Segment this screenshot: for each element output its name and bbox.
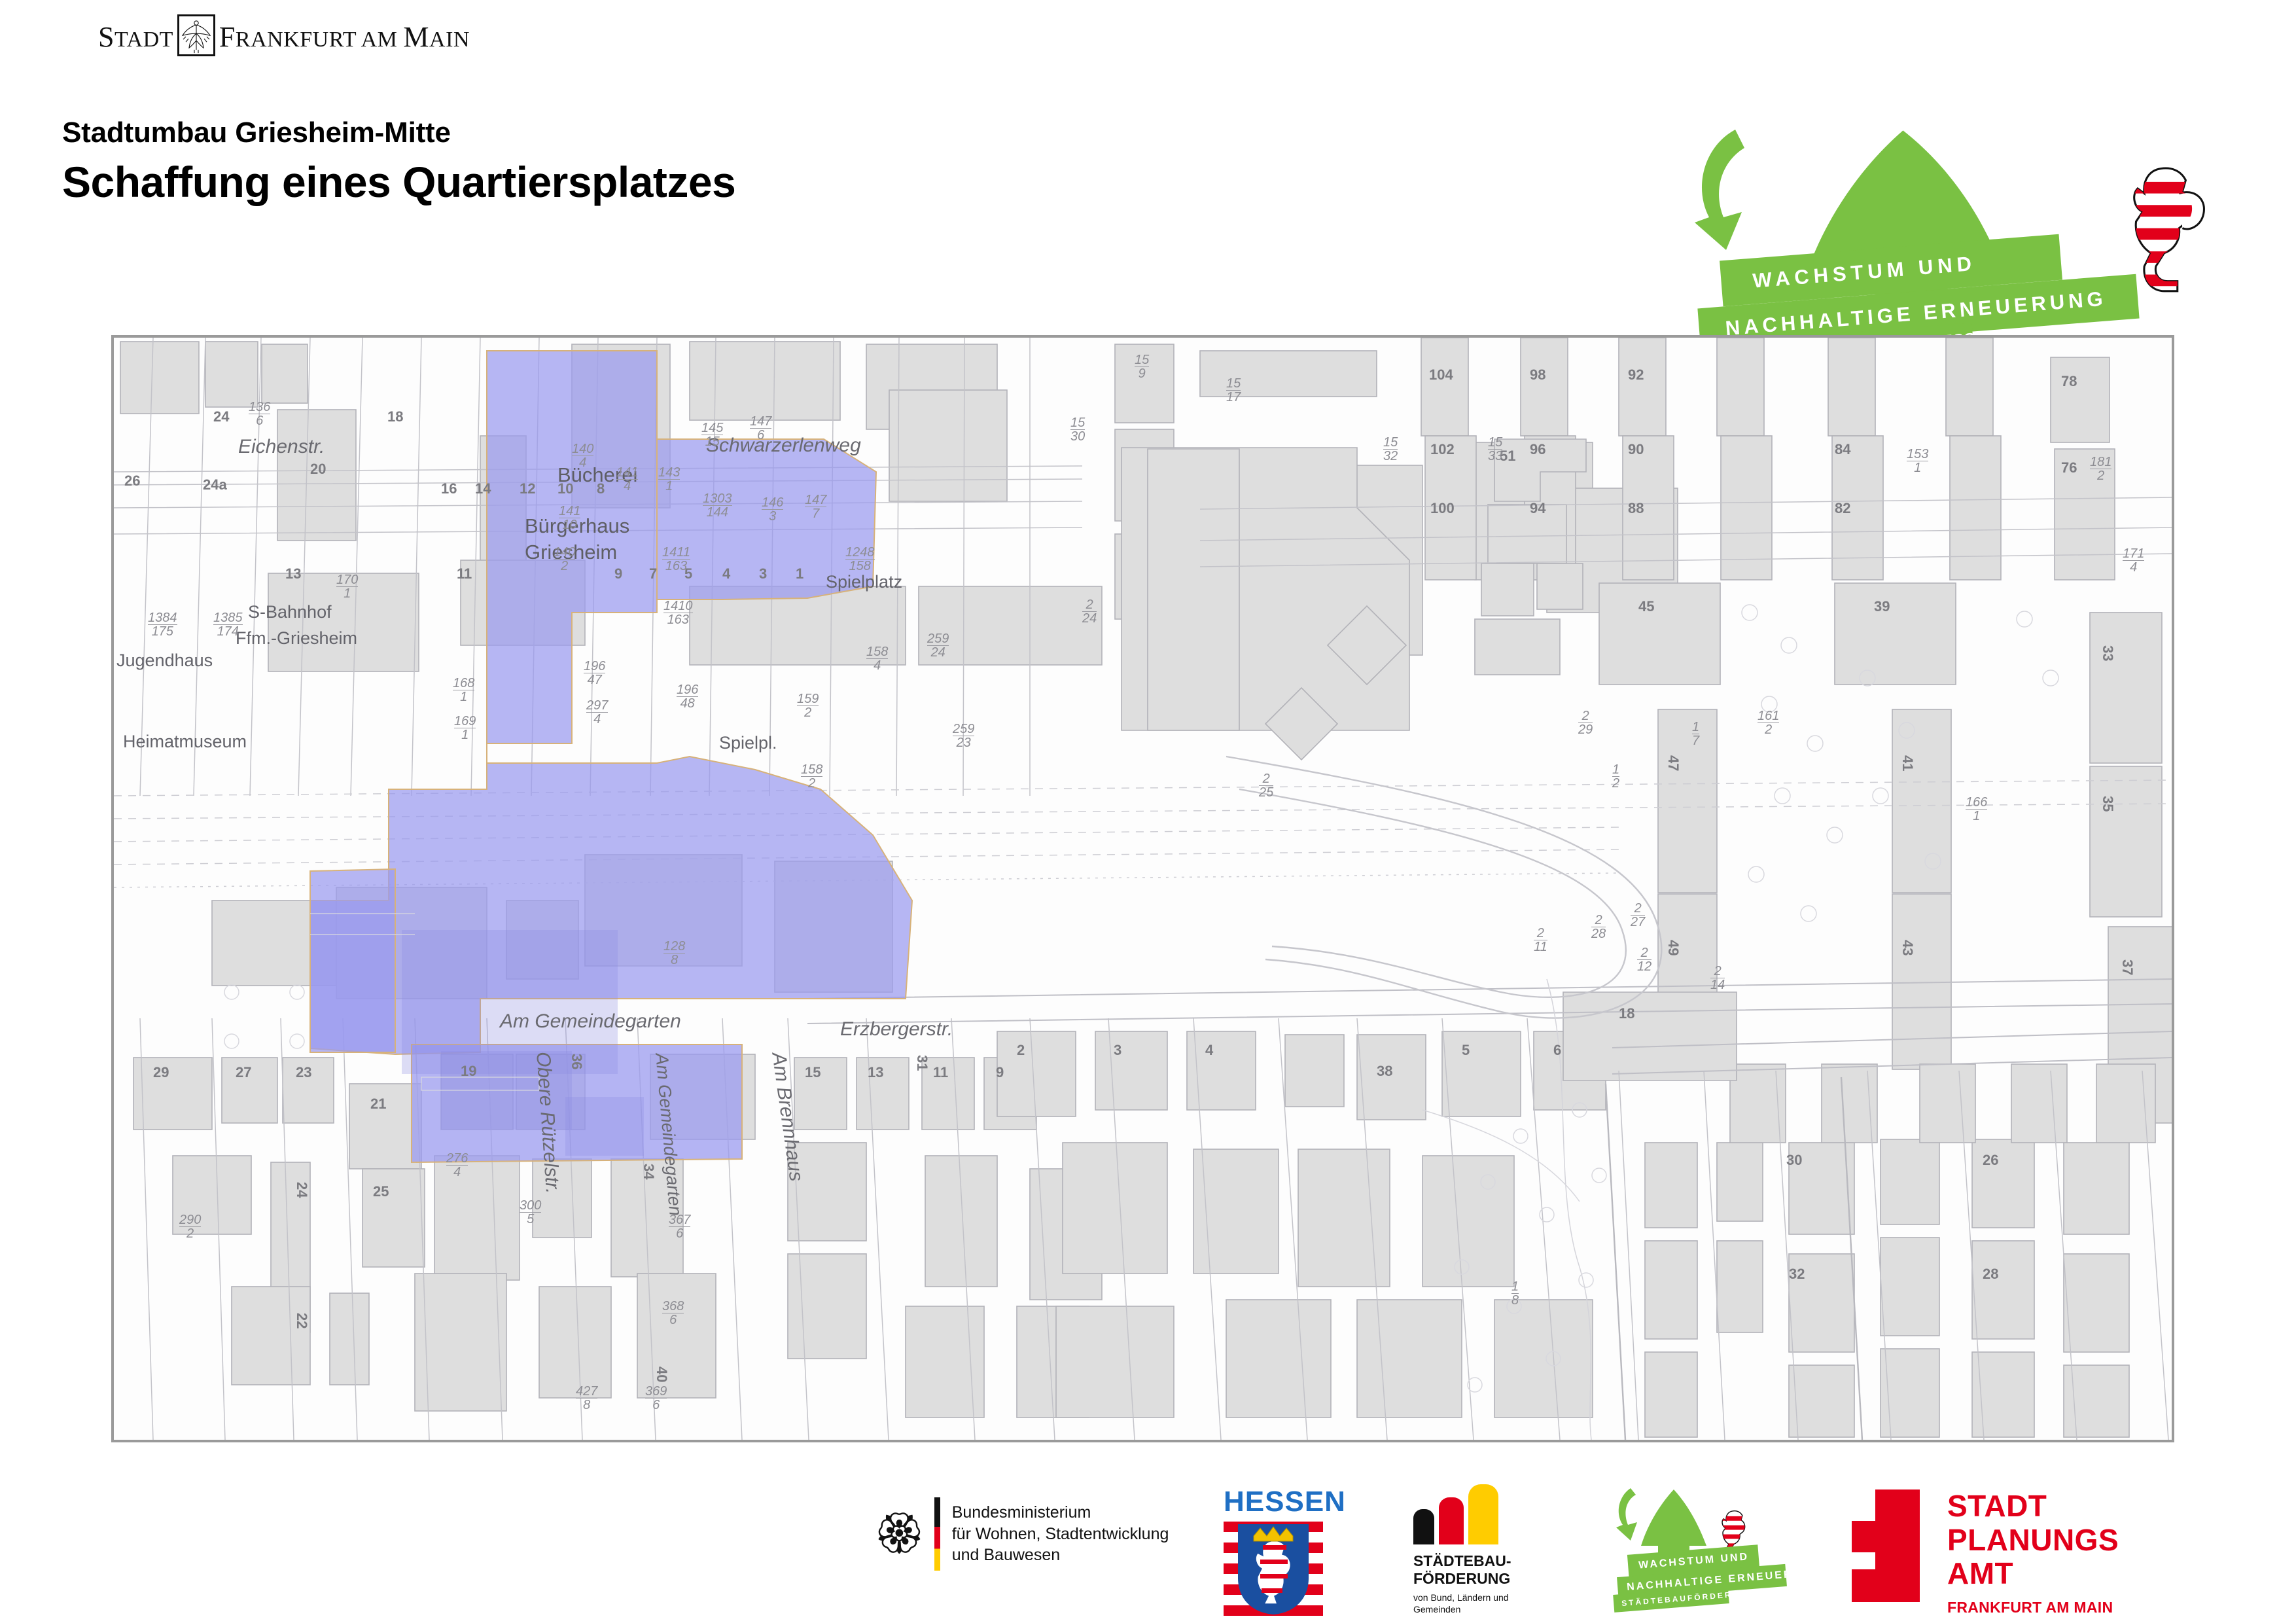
spa-word-1: STADT [1947, 1489, 2119, 1524]
three-houses-icon [1413, 1487, 1511, 1544]
staedtebaufoerderung-logo: STÄDTEBAU- FÖRDERUNG von Bund, Ländern u… [1413, 1487, 1564, 1615]
spa-subline: FRANKFURT AM MAIN [1947, 1599, 2119, 1616]
bundesadler-icon: 🏵 [874, 1514, 925, 1554]
bmwsb-line-3: und Bauwesen [952, 1544, 1169, 1566]
staedtebau-sub-1: von Bund, Ländern und [1413, 1592, 1511, 1604]
spa-word-2: PLANUNGS [1947, 1524, 2119, 1558]
city-of-frankfurt-logo: STADT FRANKFURT AM MAIN [98, 14, 470, 54]
bmwsb-text: Bundesministerium für Wohnen, Stadtentwi… [952, 1502, 1169, 1566]
map-drawing [114, 338, 2172, 1440]
stadtplanungsamt-logo: STADT PLANUNGS AMT FRANKFURT AM MAIN [1852, 1489, 2119, 1616]
funding-logo-bar: 🏵 Bundesministerium für Wohnen, Stadtent… [0, 1480, 2296, 1623]
page-title: Schaffung eines Quartiersplatzes [62, 157, 735, 207]
program-logo-small: WACHSTUM UND NACHHALTIGE ERNEUERUNG STÄD… [1616, 1486, 1812, 1610]
stadtplanungsamt-mark-icon [1852, 1489, 1920, 1602]
hessen-logo: HESSEN [1224, 1486, 1328, 1616]
hessen-shield-icon [1224, 1522, 1323, 1616]
staedtebau-line-2: FÖRDERUNG [1413, 1570, 1511, 1588]
hessen-wordmark: HESSEN [1224, 1486, 1328, 1518]
poster-page: STADT FRANKFURT AM MAIN Stadtumbau Gries… [0, 0, 2296, 1623]
staedtebau-sub-2: Gemeinden [1413, 1604, 1511, 1616]
staedtebau-line-1: STÄDTEBAU- [1413, 1552, 1511, 1570]
frankfurt-eagle-crest-icon [177, 14, 215, 56]
spa-word-3: AMT [1947, 1557, 2119, 1591]
logo-word-frankfurt: FRANKFURT AM MAIN [219, 20, 470, 54]
cadastral-map[interactable]: Eichenstr. Schwarzerlenweg Erzbergerstr.… [111, 335, 2174, 1442]
bmwsb-line-1: Bundesministerium [952, 1502, 1169, 1524]
bmwsb-line-2: für Wohnen, Stadtentwicklung [952, 1524, 1169, 1545]
bmwsb-logo: 🏵 Bundesministerium für Wohnen, Stadtent… [874, 1497, 1169, 1571]
poster-subtitle: Stadtumbau Griesheim-Mitte [62, 116, 451, 149]
german-flag-bar-icon [934, 1497, 940, 1571]
logo-word-stadt: STADT [98, 20, 173, 54]
